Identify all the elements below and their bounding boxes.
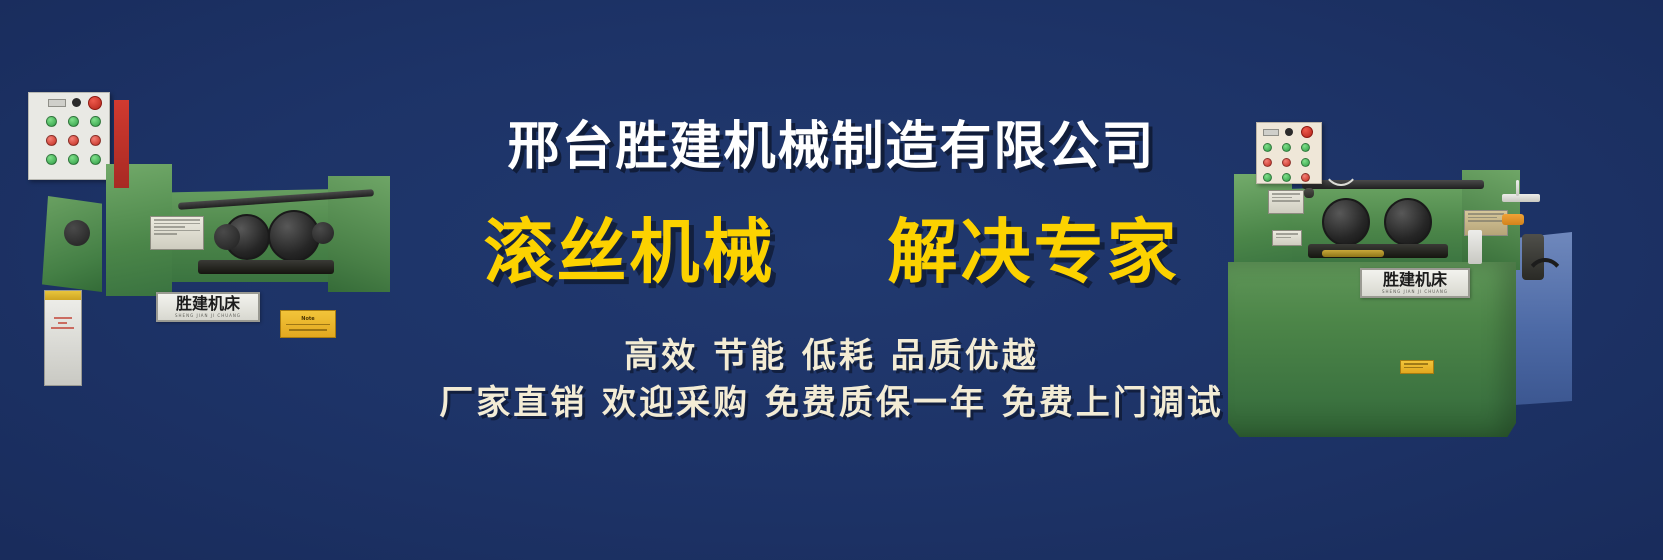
- panel-button-green: [1263, 173, 1272, 182]
- machine-left-bearing-3: [312, 222, 334, 244]
- machine-right-fitting: [1304, 188, 1314, 198]
- machine-right-brand-plate-cn: 胜建机床: [1383, 272, 1447, 288]
- panel-button-green: [1301, 158, 1310, 167]
- machine-right-cable: [1322, 140, 1360, 186]
- panel-button-green: [1282, 173, 1291, 182]
- panel-button-green: [46, 154, 57, 165]
- machine-right-brand-plate-en: SHENG JIAN JI CHUANG: [1382, 290, 1448, 294]
- machine-left-bearing-2: [214, 224, 240, 250]
- machine-right-work-rest: [1322, 250, 1384, 257]
- panel-button-red: [1263, 158, 1272, 167]
- panel-button-green: [90, 154, 101, 165]
- emergency-stop-icon: [88, 96, 102, 110]
- machine-left-brand-plate: 胜建机床 SHENG JIAN JI CHUANG: [156, 292, 260, 322]
- panel-knob-icon: [1285, 128, 1293, 136]
- panel-button-green: [1282, 143, 1291, 152]
- machine-right-valve-block: [1468, 230, 1482, 264]
- panel-button-red: [68, 135, 79, 146]
- panel-button-green: [1263, 143, 1272, 152]
- machine-right-info-label: [1400, 360, 1434, 374]
- panel-button-green: [46, 116, 57, 127]
- machine-left-warning-plate: Note: [280, 310, 336, 338]
- panel-button-green: [1301, 143, 1310, 152]
- machine-left-warning-title: Note: [301, 316, 314, 322]
- machine-right-control-panel: [1256, 122, 1322, 184]
- machine-left-side-cabinet: [44, 290, 82, 386]
- panel-button-red: [1282, 158, 1291, 167]
- machine-right-terminal-block: [1502, 214, 1524, 225]
- machine-right-roller-die-1: [1322, 198, 1370, 246]
- machine-left-slide-bed: [198, 260, 334, 274]
- thread-rolling-machine-right-image: 胜建机床 SHENG JIAN JI CHUANG: [1172, 122, 1572, 457]
- machine-left-end-bearing: [64, 220, 90, 246]
- thread-rolling-machine-left-image: 胜建机床 SHENG JIAN JI CHUANG Note: [28, 92, 408, 472]
- machine-right-brand-plate: 胜建机床 SHENG JIAN JI CHUANG: [1360, 268, 1470, 298]
- machine-right-roller-die-2: [1384, 198, 1432, 246]
- machine-left-brand-plate-cn: 胜建机床: [176, 296, 240, 312]
- machine-right-hydraulic-hose: [1524, 258, 1566, 310]
- panel-button-red: [1301, 173, 1310, 182]
- panel-button-green: [68, 116, 79, 127]
- machine-left-brand-plate-en: SHENG JIAN JI CHUANG: [175, 314, 241, 318]
- machine-right-spec-plate-top: [1268, 190, 1304, 214]
- panel-button-grid: [46, 116, 106, 169]
- panel-button-green: [90, 116, 101, 127]
- machine-left-panel-side: [114, 100, 129, 188]
- machine-right-headstock: [1234, 174, 1292, 270]
- panel-display-icon: [48, 99, 66, 107]
- panel-button-red: [90, 135, 101, 146]
- machine-right-spec-plate-small: [1272, 230, 1302, 246]
- panel-button-green: [68, 154, 79, 165]
- machine-right-feed-tray: [1502, 194, 1540, 202]
- machine-left-spec-plate: [150, 216, 204, 250]
- emergency-stop-icon: [1301, 126, 1313, 138]
- machine-left-control-panel: [28, 92, 110, 180]
- panel-button-grid: [1263, 143, 1315, 185]
- panel-knob-icon: [72, 98, 81, 107]
- machine-right-antenna: [1516, 180, 1519, 196]
- panel-button-red: [46, 135, 57, 146]
- promotional-banner: 胜建机床 SHENG JIAN JI CHUANG Note: [0, 0, 1663, 560]
- machine-left-cabinet-top: [45, 291, 81, 300]
- panel-display-icon: [1263, 129, 1279, 136]
